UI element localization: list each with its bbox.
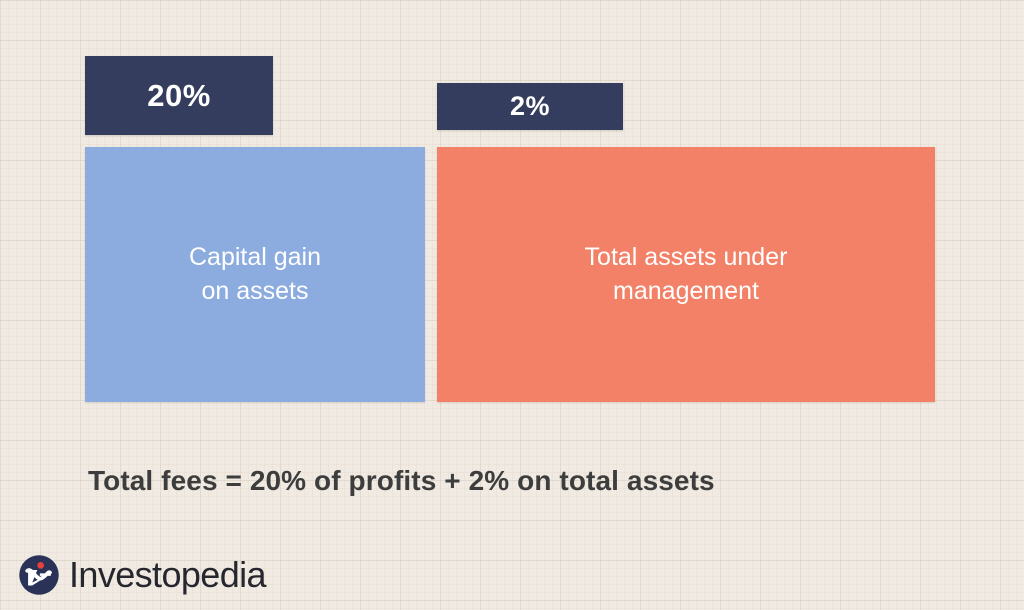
bar-total-assets-under-management: Total assets under management <box>437 147 935 402</box>
percent-label-aum: 2% <box>510 93 550 120</box>
percent-cap-capital-gain: 20% <box>85 56 273 135</box>
percent-cap-aum: 2% <box>437 83 623 130</box>
formula-caption: Total fees = 20% of profits + 2% on tota… <box>88 464 928 498</box>
investopedia-mark-icon <box>18 554 60 596</box>
bar-capital-gain: Capital gain on assets <box>85 147 425 402</box>
percent-label-capital-gain: 20% <box>147 80 211 111</box>
investopedia-wordmark: Investopedia <box>69 557 266 593</box>
infographic-canvas: 20% 2% Capital gain on assets Total asse… <box>0 0 1024 610</box>
bar-label-capital-gain: Capital gain on assets <box>177 241 333 309</box>
investopedia-logo: Investopedia <box>18 552 266 598</box>
bar-label-aum: Total assets under management <box>573 241 800 309</box>
